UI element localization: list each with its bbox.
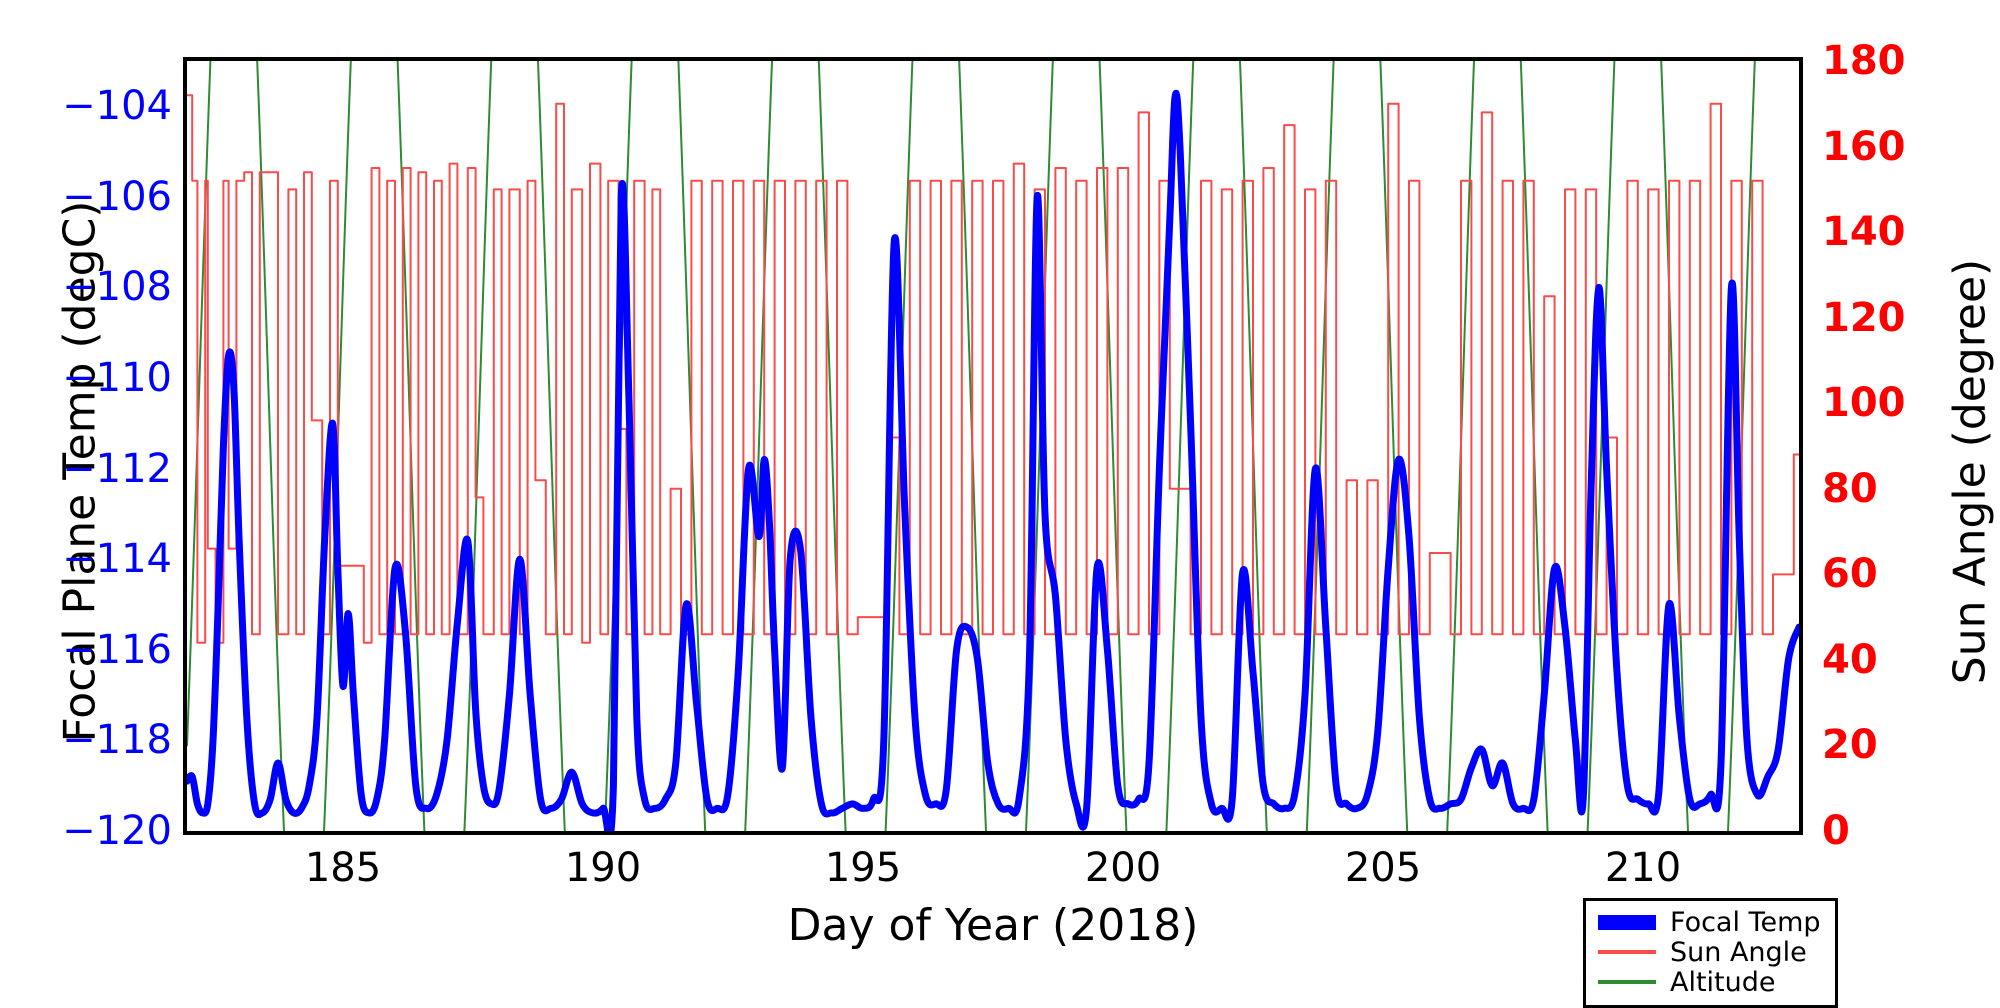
y-tick-label-left: −108: [62, 264, 172, 310]
y-axis-right-title: Sun Angle (degree): [1945, 152, 1996, 792]
y-tick-label-left: −118: [62, 717, 172, 763]
x-tick-label: 210: [1605, 845, 1681, 891]
y-tick-label-left: −112: [62, 446, 172, 492]
y-tick-label-right: 20: [1822, 722, 1878, 768]
y-tick-label-left: −116: [62, 627, 172, 673]
legend-label-sun-angle: Sun Angle: [1670, 939, 1807, 966]
x-tick-label: 185: [305, 845, 381, 891]
y-tick-label-left: −120: [62, 808, 172, 854]
y-tick-label-right: 100: [1822, 380, 1906, 426]
y-tick-label-left: −106: [62, 174, 172, 220]
legend-swatch-altitude: [1598, 980, 1656, 984]
plot-area: [183, 57, 1803, 835]
legend-label-focal-temp: Focal Temp: [1670, 909, 1821, 936]
y-tick-label-right: 120: [1822, 295, 1906, 341]
y-tick-label-right: 180: [1822, 38, 1906, 84]
legend-swatch-focal-temp: [1598, 915, 1656, 930]
sun-angle-step-line: [187, 95, 1799, 643]
x-tick-label: 205: [1345, 845, 1421, 891]
y-tick-label-right: 40: [1822, 637, 1878, 683]
x-tick-label: 200: [1085, 845, 1161, 891]
y-tick-label-right: 0: [1822, 808, 1850, 854]
chart-root: Focal Plane Temp (degC) Sun Angle (degre…: [0, 0, 2000, 1000]
y-tick-label-right: 80: [1822, 466, 1878, 512]
plot-canvas: [187, 61, 1799, 831]
y-tick-label-left: −104: [62, 83, 172, 129]
x-tick-label: 195: [825, 845, 901, 891]
y-tick-label-right: 60: [1822, 551, 1878, 597]
x-tick-label: 190: [565, 845, 641, 891]
legend-item-sun-angle[interactable]: Sun Angle: [1598, 937, 1821, 967]
x-axis-title: Day of Year (2018): [183, 900, 1803, 951]
legend-item-altitude[interactable]: Altitude: [1598, 967, 1821, 997]
y-tick-label-right: 140: [1822, 209, 1906, 255]
legend-label-altitude: Altitude: [1670, 969, 1776, 996]
y-tick-label-left: −110: [62, 355, 172, 401]
y-tick-label-left: −114: [62, 536, 172, 582]
legend-item-focal-temp[interactable]: Focal Temp: [1598, 907, 1821, 937]
series-sun-angle: [187, 95, 1799, 643]
legend[interactable]: Focal Temp Sun Angle Altitude: [1583, 898, 1838, 1008]
legend-swatch-sun-angle: [1598, 950, 1656, 954]
y-tick-label-right: 160: [1822, 124, 1906, 170]
